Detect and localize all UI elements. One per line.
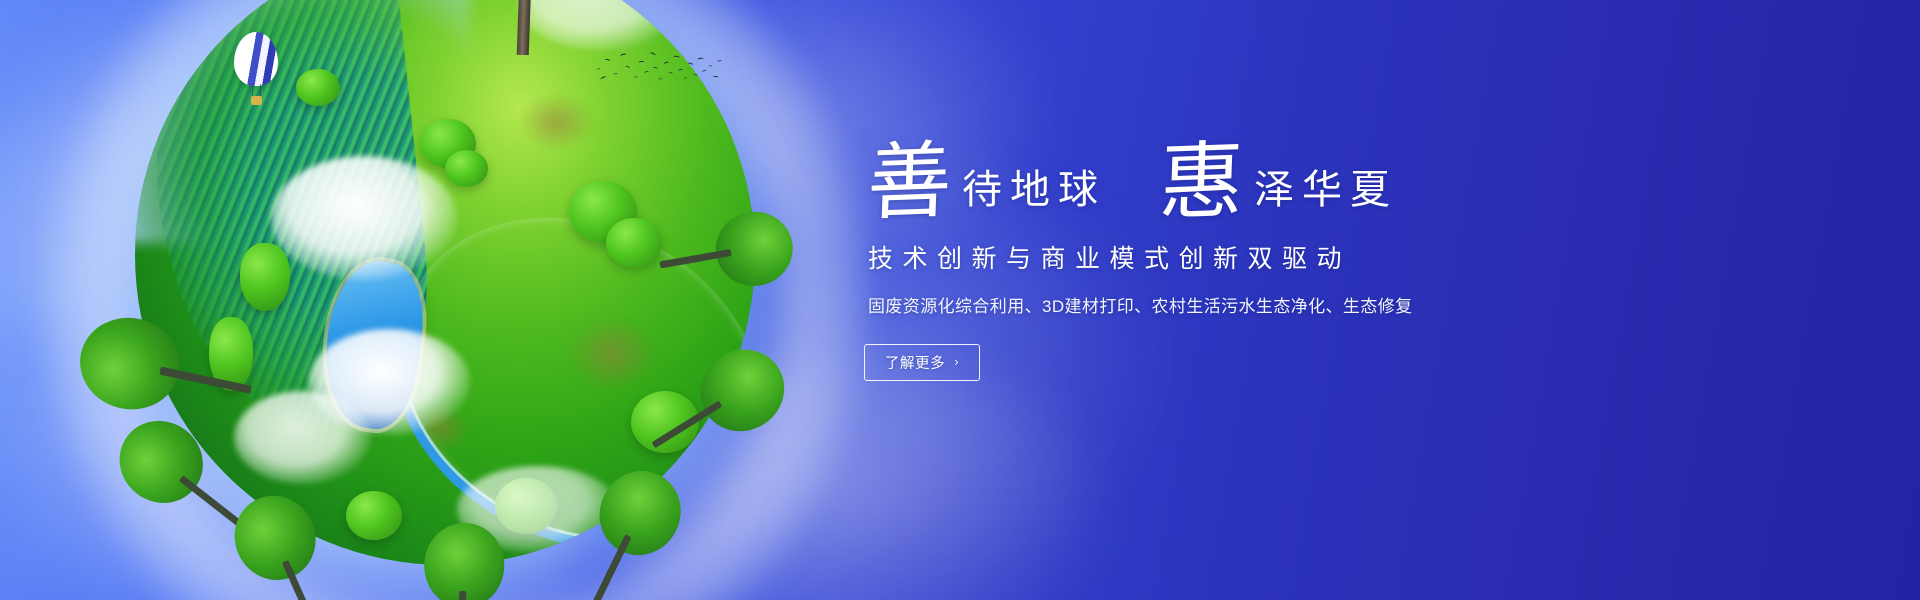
- bird-icon: [717, 60, 722, 63]
- learn-more-button[interactable]: 了解更多 ›: [864, 344, 980, 381]
- hero-tree-icon: [420, 0, 631, 50]
- globe-earth-patch: [519, 94, 593, 150]
- bird-icon: [613, 73, 617, 76]
- bird-flock-icon: [592, 50, 722, 90]
- hero-copy-block: 善 待地球 惠 泽华夏 技术创新与商业模式创新双驱动 固废资源化综合利用、3D建…: [862, 126, 1682, 381]
- globe-edge-tree: [418, 533, 510, 600]
- bird-icon: [600, 76, 607, 82]
- bird-icon: [620, 53, 627, 58]
- bird-icon: [713, 76, 719, 80]
- headline-group-two: 惠 泽华夏: [1158, 145, 1398, 222]
- headline-brush-char-two: 惠: [1158, 142, 1251, 222]
- bird-icon: [653, 67, 658, 71]
- globe-shrub: [240, 243, 290, 311]
- bird-icon: [668, 72, 673, 76]
- bird-icon: [683, 77, 687, 80]
- globe-cloud-puff: [271, 156, 457, 280]
- bird-icon: [659, 78, 663, 81]
- headline-brush-char-one: 善: [866, 142, 959, 222]
- hot-air-balloon-icon: [234, 32, 278, 106]
- bird-icon: [673, 55, 680, 59]
- bird-icon: [644, 71, 649, 75]
- bird-icon: [639, 61, 645, 65]
- bird-icon: [687, 62, 693, 67]
- hero-subtitle: 技术创新与商业模式创新双驱动: [868, 244, 1682, 274]
- bird-icon: [702, 69, 708, 74]
- hero-banner: 善 待地球 惠 泽华夏 技术创新与商业模式创新双驱动 固废资源化综合利用、3D建…: [0, 0, 1920, 600]
- headline-group-one: 善 待地球: [866, 145, 1106, 222]
- globe-shrub: [445, 150, 488, 187]
- hero-description: 固废资源化综合利用、3D建材打印、农村生活污水生态净化、生态修复: [868, 296, 1682, 318]
- bird-icon: [697, 57, 704, 62]
- globe-shrub: [346, 491, 402, 541]
- bird-icon: [604, 58, 610, 62]
- bird-icon: [678, 69, 683, 73]
- globe-shrub: [296, 69, 339, 106]
- balloon-basket: [251, 96, 262, 105]
- balloon-envelope: [234, 32, 278, 86]
- tree-trunk: [517, 0, 533, 55]
- bird-icon: [596, 68, 600, 72]
- bird-icon: [693, 74, 698, 77]
- bird-icon: [708, 65, 712, 68]
- bird-icon: [649, 52, 656, 58]
- headline-rest-one: 待地球: [956, 170, 1106, 222]
- page-title: 善 待地球 惠 泽华夏: [866, 126, 1682, 222]
- bird-icon: [625, 65, 631, 70]
- headline-rest-two: 泽华夏: [1248, 170, 1398, 222]
- bird-icon: [633, 76, 637, 79]
- globe-cloud-puff: [234, 391, 370, 484]
- bird-icon: [663, 61, 669, 66]
- chevron-right-icon: ›: [954, 354, 959, 369]
- learn-more-label: 了解更多: [885, 352, 945, 373]
